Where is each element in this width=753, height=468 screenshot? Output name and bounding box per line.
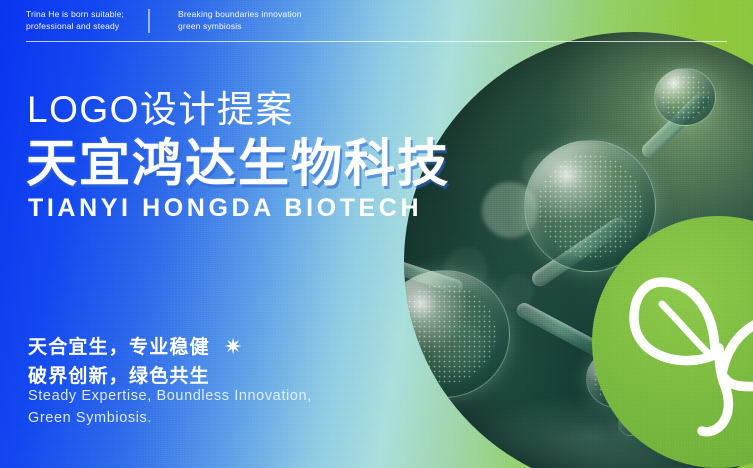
header-tagline-right: Breaking boundaries innovation green sym… xyxy=(178,8,302,32)
header-strip: Trina He is born suitable; professional … xyxy=(26,8,727,33)
atom-speckle xyxy=(661,75,709,120)
slogan-en: Steady Expertise, Boundless Innovation, … xyxy=(28,386,312,430)
header-left-line2: professional and steady xyxy=(26,20,148,32)
slogan-cn-line1: 天合宜生，专业稳健 xyxy=(28,337,210,358)
header-right-line1: Breaking boundaries innovation xyxy=(178,9,302,19)
slogan-cn: 天合宜生，专业稳健✷ 破界创新，绿色共生 xyxy=(28,331,243,390)
atom-speckle xyxy=(538,154,642,258)
header-right-line2: green symbiosis xyxy=(178,20,302,32)
page-title: 天宜鸿达生物科技 xyxy=(26,136,450,191)
molecule-atom xyxy=(654,68,716,126)
header-rule-horizontal xyxy=(26,41,727,42)
hero-kicker: LOGO设计提案 xyxy=(27,91,294,128)
header-divider-vertical xyxy=(148,9,150,33)
slogan-en-line2: Green Symbiosis. xyxy=(28,408,312,430)
header-left-line1: Trina He is born suitable; xyxy=(26,9,124,19)
atom-speckle xyxy=(404,284,496,385)
bokeh-dot xyxy=(500,274,534,308)
page-subtitle-en: TIANYI HONGDA BIOTECH xyxy=(28,196,422,221)
asterisk-icon: ✷ xyxy=(224,331,244,363)
sprout-leaf-icon xyxy=(618,248,753,438)
slogan-cn-line1-wrap: 天合宜生，专业稳健✷ xyxy=(28,331,243,363)
logo-proposal-poster: Trina He is born suitable; professional … xyxy=(0,0,753,468)
header-tagline-left: Trina He is born suitable; professional … xyxy=(26,8,148,32)
slogan-en-line1: Steady Expertise, Boundless Innovation, xyxy=(28,386,312,408)
